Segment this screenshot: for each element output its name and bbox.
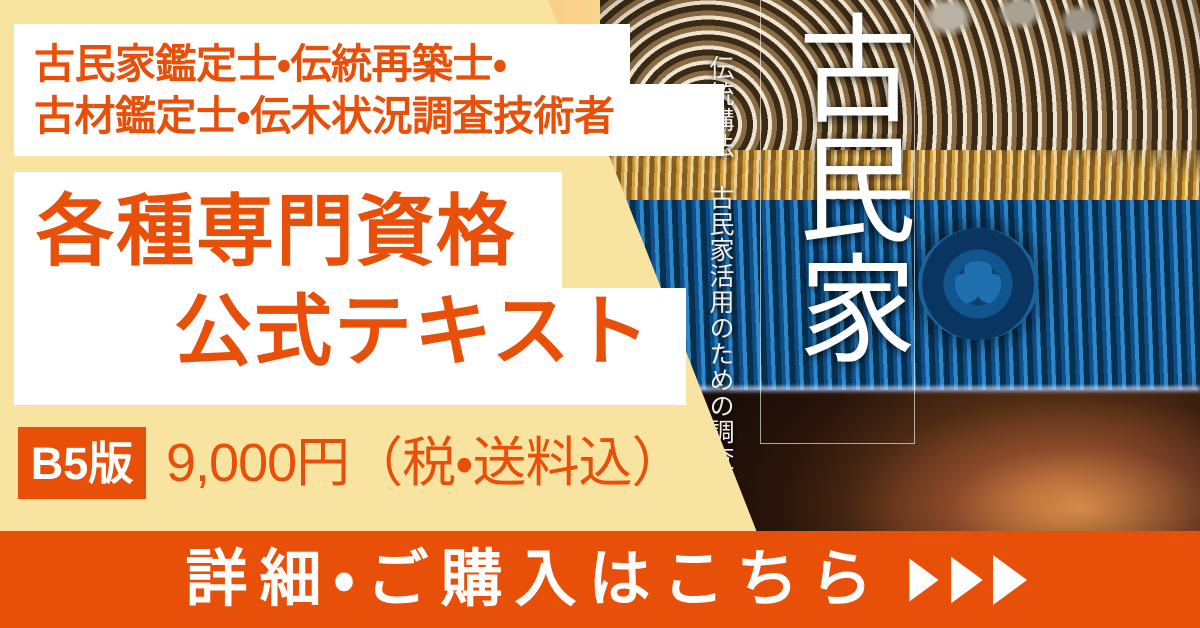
promo-banner: 古民家 伝統構法 古民家活用のための調査と再生の 古民家鑑定士・伝統再築士・ 古… (0, 0, 1200, 628)
cta-label: 詳細・ご購入はこちら (173, 549, 884, 611)
format-badge: B5版 (18, 427, 146, 499)
certifications-panel: 古民家鑑定士・伝統再築士・ 古材鑑定士・伝木状況調査技術者 (14, 24, 724, 156)
cta-arrows (907, 555, 1027, 605)
play-arrow-icon (909, 558, 938, 601)
certifications-line-2: 古材鑑定士・伝木状況調査技術者 (34, 90, 614, 142)
play-arrow-icon (951, 556, 983, 603)
headline-line-2: 公式テキスト (174, 282, 652, 382)
price-row: B5版 9,000円（税・送料込） (18, 426, 685, 500)
certifications-line-1: 古民家鑑定士・伝統再築士・ (34, 38, 614, 90)
price-text: 9,000円（税・送料込） (166, 436, 685, 490)
cover-title-text: 古民家 (768, 8, 908, 368)
cta-button[interactable]: 詳細・ご購入はこちら (0, 531, 1200, 628)
headline-line-1: 各種専門資格 (36, 182, 516, 282)
certifications-text: 古民家鑑定士・伝統再築士・ 古材鑑定士・伝木状況調査技術者 (34, 38, 614, 143)
play-arrow-icon (993, 555, 1027, 605)
